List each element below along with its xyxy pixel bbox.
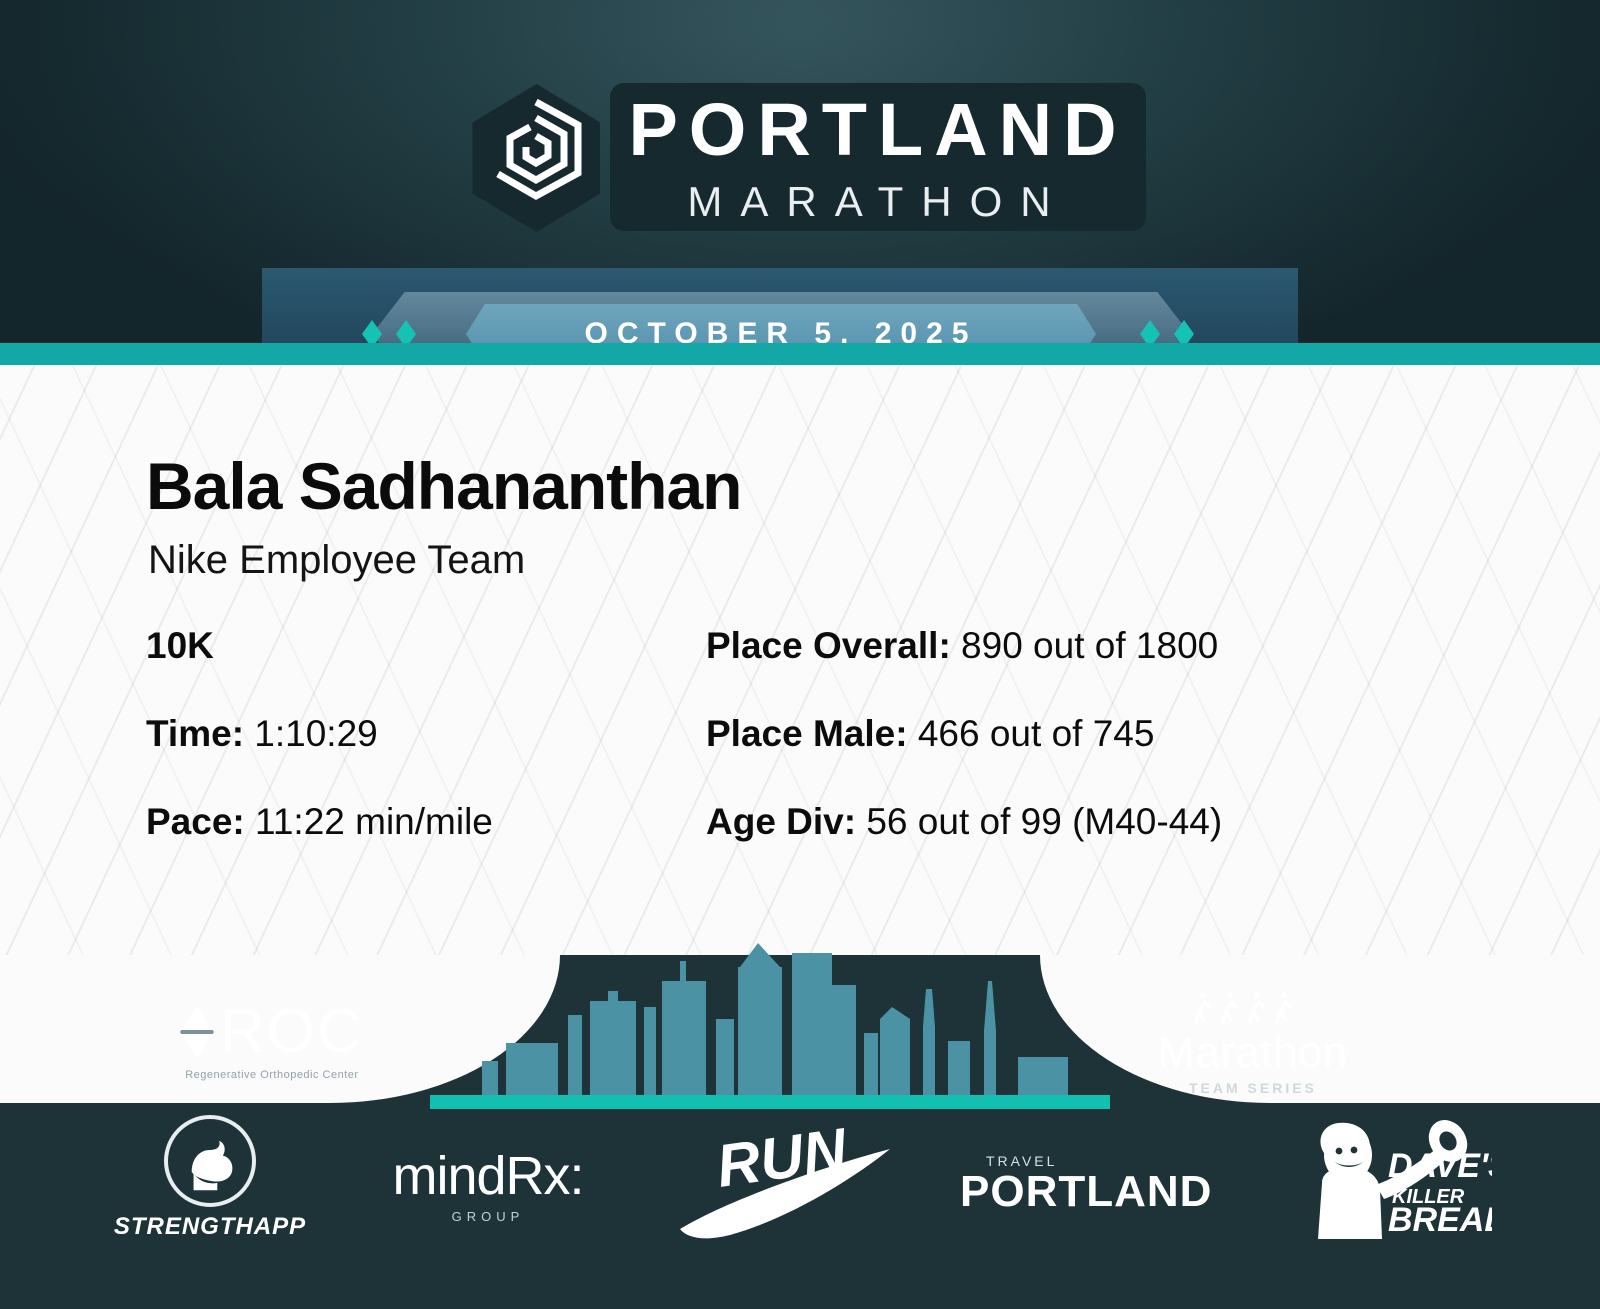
guitar-mascot-icon: DAVE'S KILLER BREAD xyxy=(1292,1111,1492,1261)
race-result-certificate: PORTLAND MARATHON OCTOBER 5, 2025 Bala S… xyxy=(0,0,1600,1309)
sponsor-mts-sub: TEAM SERIES xyxy=(1158,1080,1348,1096)
roc-diamond-icon xyxy=(180,1006,214,1058)
stat-value: 890 out of 1800 xyxy=(961,625,1218,666)
stat-label: Time: xyxy=(146,713,254,754)
sponsor-row-primary: ROC Regenerative Orthopedic Center xyxy=(0,975,1600,1105)
sponsor-strengthapp: STRENGTHAPP xyxy=(110,1115,310,1241)
stat-age-div: Age Div: 56 out of 99 (M40-44) xyxy=(706,803,1406,840)
flexed-arm-icon xyxy=(164,1115,256,1207)
stat-label: Age Div: xyxy=(706,801,866,842)
sponsor-travel-large: PORTLAND xyxy=(960,1169,1210,1215)
sponsor-mts-name: Marathon xyxy=(1158,1031,1348,1075)
sponsor-roc-name: ROC xyxy=(220,1001,364,1063)
sponsor-marathon-team-series: Marathon TEAM SERIES xyxy=(1158,989,1348,1096)
sponsor-roc-tagline: Regenerative Orthopedic Center xyxy=(185,1069,358,1081)
results-panel: Bala Sadhananthan Nike Employee Team 10K… xyxy=(0,365,1600,965)
stat-value: 466 out of 745 xyxy=(918,713,1155,754)
runner-team: Nike Employee Team xyxy=(148,540,525,580)
stat-label: Place Overall: xyxy=(706,625,961,666)
dkb-line3: BREAD xyxy=(1388,1201,1492,1239)
stats-column-right: Place Overall: 890 out of 1800 Place Mal… xyxy=(706,627,1406,891)
sponsor-mindrx: mindRx: GROUP xyxy=(368,1149,608,1224)
stat-time: Time: 1:10:29 xyxy=(146,715,686,752)
sponsor-nike-run: RUN xyxy=(672,1125,922,1250)
portland-hex-spiral-icon xyxy=(472,84,600,232)
stat-label: Pace: xyxy=(146,801,255,842)
stat-place-overall: Place Overall: 890 out of 1800 xyxy=(706,627,1406,664)
logo-secondary-text: MARATHON xyxy=(628,181,1127,223)
stat-pace: Pace: 11:22 min/mile xyxy=(146,803,686,840)
sponsor-strengthapp-name: STRENGTHAPP xyxy=(110,1213,310,1241)
runner-name: Bala Sadhananthan xyxy=(146,453,741,519)
stat-value: 56 out of 99 (M40-44) xyxy=(866,801,1222,842)
stat-label: Place Male: xyxy=(706,713,918,754)
sponsor-daves-killer-bread: DAVE'S KILLER BREAD xyxy=(1292,1111,1492,1266)
sponsor-mindrx-sub: GROUP xyxy=(368,1209,608,1224)
race-distance: 10K xyxy=(146,627,686,664)
stats-column-left: 10K Time: 1:10:29 Pace: 11:22 min/mile xyxy=(146,627,686,891)
sponsor-travel-portland: TRAVEL PORTLAND xyxy=(960,1153,1210,1215)
dkb-line1: DAVE'S xyxy=(1388,1147,1492,1185)
header-banner: PORTLAND MARATHON OCTOBER 5, 2025 xyxy=(0,0,1600,356)
event-logo: PORTLAND MARATHON xyxy=(0,84,1600,232)
logo-primary-text: PORTLAND xyxy=(628,93,1127,167)
running-figures-icon xyxy=(1158,989,1348,1027)
stat-value: 11:22 min/mile xyxy=(255,801,493,842)
sponsor-mindrx-name: mindRx: xyxy=(368,1149,608,1203)
sponsor-footer: ROC Regenerative Orthopedic Center xyxy=(0,955,1600,1309)
sponsor-row-secondary: STRENGTHAPP mindRx: GROUP RUN TRAVEL POR… xyxy=(0,1105,1600,1275)
sponsor-roc: ROC Regenerative Orthopedic Center xyxy=(180,1001,364,1081)
stat-place-male: Place Male: 466 out of 745 xyxy=(706,715,1406,752)
stat-value: 1:10:29 xyxy=(254,713,377,754)
teal-accent-bar xyxy=(0,343,1600,365)
